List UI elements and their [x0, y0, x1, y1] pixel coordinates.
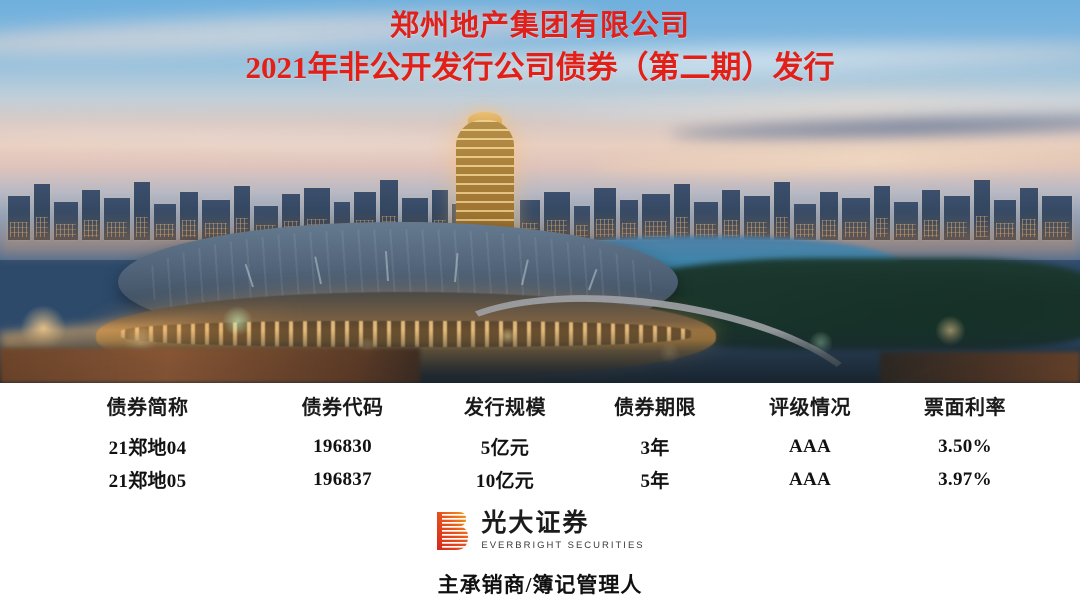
- hero-cityscape-photo: 郑州地产集团有限公司 2021年非公开发行公司债券（第二期）发行: [0, 0, 1080, 383]
- header-bond-term: 债券期限: [580, 383, 730, 430]
- cell-bond-term: 3年: [580, 430, 730, 463]
- logo-text: 光大证券 EVERBRIGHT SECURITIES: [481, 511, 644, 551]
- cell-rating: AAA: [730, 430, 890, 463]
- bond-issuance-poster: 郑州地产集团有限公司 2021年非公开发行公司债券（第二期）发行 债券简称 债券…: [0, 0, 1080, 608]
- cell-bond-name: 21郑地05: [40, 463, 255, 496]
- table-row: 21郑地05 196837 10亿元 5年 AAA 3.97%: [40, 463, 1040, 496]
- cell-coupon-rate: 3.50%: [890, 430, 1040, 463]
- bond-details-table: 债券简称 债券代码 发行规模 债券期限 评级情况 票面利率 21郑地04 196…: [40, 383, 1040, 496]
- footer-area: 光大证券 EVERBRIGHT SECURITIES 主承销商/簿记管理人: [0, 505, 1080, 608]
- cell-bond-name: 21郑地04: [40, 430, 255, 463]
- cell-bond-term: 5年: [580, 463, 730, 496]
- header-bond-name: 债券简称: [40, 383, 255, 430]
- header-rating: 评级情况: [730, 383, 890, 430]
- cell-issue-scale: 10亿元: [430, 463, 580, 496]
- cell-coupon-rate: 3.97%: [890, 463, 1040, 496]
- header-bond-code: 债券代码: [255, 383, 430, 430]
- table-header-row: 债券简称 债券代码 发行规模 债券期限 评级情况 票面利率: [40, 383, 1040, 430]
- underwriter-logo: 光大证券 EVERBRIGHT SECURITIES: [0, 505, 1080, 557]
- everbright-securities-logo-icon: [435, 511, 469, 551]
- foreground-ground-right: [880, 352, 1080, 383]
- cell-rating: AAA: [730, 463, 890, 496]
- logo-chinese-name: 光大证券: [481, 511, 644, 536]
- foreground-ground-left: [0, 348, 420, 383]
- underwriter-role-label: 主承销商/簿记管理人: [0, 569, 1080, 599]
- header-coupon-rate: 票面利率: [890, 383, 1040, 430]
- header-issue-scale: 发行规模: [430, 383, 580, 430]
- logo-english-name: EVERBRIGHT SECURITIES: [481, 541, 644, 551]
- cell-issue-scale: 5亿元: [430, 430, 580, 463]
- cell-bond-code: 196830: [255, 430, 430, 463]
- company-name-title: 郑州地产集团有限公司: [0, 8, 1080, 44]
- poster-title: 郑州地产集团有限公司 2021年非公开发行公司债券（第二期）发行: [0, 8, 1080, 88]
- cell-bond-code: 196837: [255, 463, 430, 496]
- bond-table-area: 债券简称 债券代码 发行规模 债券期限 评级情况 票面利率 21郑地04 196…: [0, 383, 1080, 505]
- table-row: 21郑地04 196830 5亿元 3年 AAA 3.50%: [40, 430, 1040, 463]
- bond-issuance-title: 2021年非公开发行公司债券（第二期）发行: [0, 48, 1080, 88]
